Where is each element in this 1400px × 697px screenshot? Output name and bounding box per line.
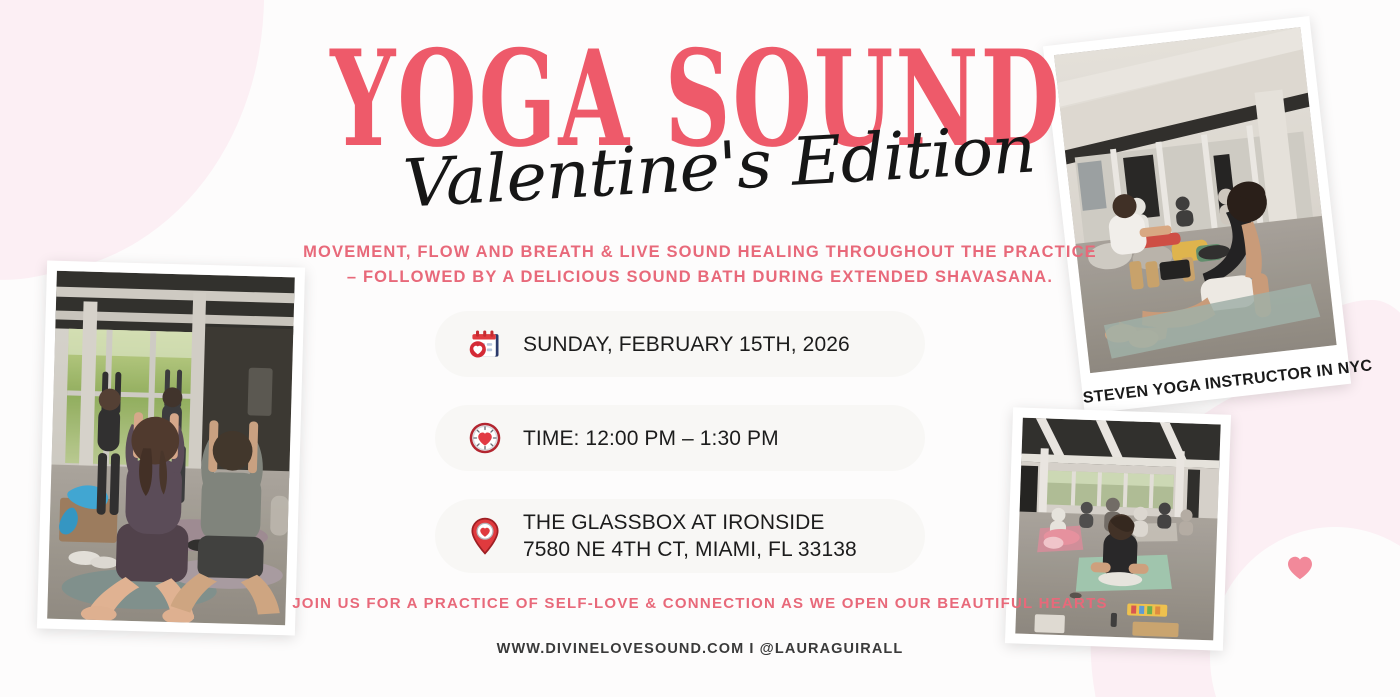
event-description: MOVEMENT, FLOW AND BREATH & LIVE SOUND H… (0, 240, 1400, 290)
headline-block: YOGA SOUND (0, 36, 1400, 127)
detail-location-line-2: 7580 NE 4TH CT, MIAMI, FL 33138 (523, 536, 857, 563)
decorative-heart-icon (1287, 556, 1313, 580)
clock-heart-icon (465, 418, 505, 458)
detail-time-line-1: TIME: 12:00 PM – 1:30 PM (523, 427, 779, 450)
location-pin-heart-icon (465, 516, 505, 556)
photo-left-image (47, 271, 295, 626)
detail-text-time: TIME: 12:00 PM – 1:30 PM (523, 425, 779, 452)
photo-card-left (37, 260, 305, 635)
detail-text-location: THE GLASSBOX AT IRONSIDE 7580 NE 4TH CT,… (523, 509, 857, 563)
event-description-line-2: – FOLLOWED BY A DELICIOUS SOUND BATH DUR… (0, 265, 1400, 290)
detail-row-time[interactable]: TIME: 12:00 PM – 1:30 PM (435, 405, 925, 471)
footer-tagline: JOIN US FOR A PRACTICE OF SELF-LOVE & CO… (0, 595, 1400, 612)
flyer-canvas: STEVEN YOGA INSTRUCTOR IN NYC (0, 0, 1400, 697)
event-description-line-1: MOVEMENT, FLOW AND BREATH & LIVE SOUND H… (0, 240, 1400, 265)
calendar-heart-icon (465, 324, 505, 364)
photo-card-bottom-right (1005, 407, 1231, 650)
background-blob-bottom-right-cutout (1210, 527, 1400, 697)
detail-text-date: SUNDAY, FEBRUARY 15TH, 2026 (523, 331, 850, 358)
detail-date-line-1: SUNDAY, FEBRUARY 15TH, 2026 (523, 333, 850, 356)
footer-website-handle[interactable]: WWW.DIVINELOVESOUND.COM I @LAURAGUIRALL (0, 641, 1400, 657)
page-title: YOGA SOUND (330, 36, 1061, 162)
detail-row-location[interactable]: THE GLASSBOX AT IRONSIDE 7580 NE 4TH CT,… (435, 499, 925, 573)
event-details-list: SUNDAY, FEBRUARY 15TH, 2026 (435, 311, 925, 601)
detail-row-date[interactable]: SUNDAY, FEBRUARY 15TH, 2026 (435, 311, 925, 377)
detail-location-line-1: THE GLASSBOX AT IRONSIDE (523, 511, 825, 534)
